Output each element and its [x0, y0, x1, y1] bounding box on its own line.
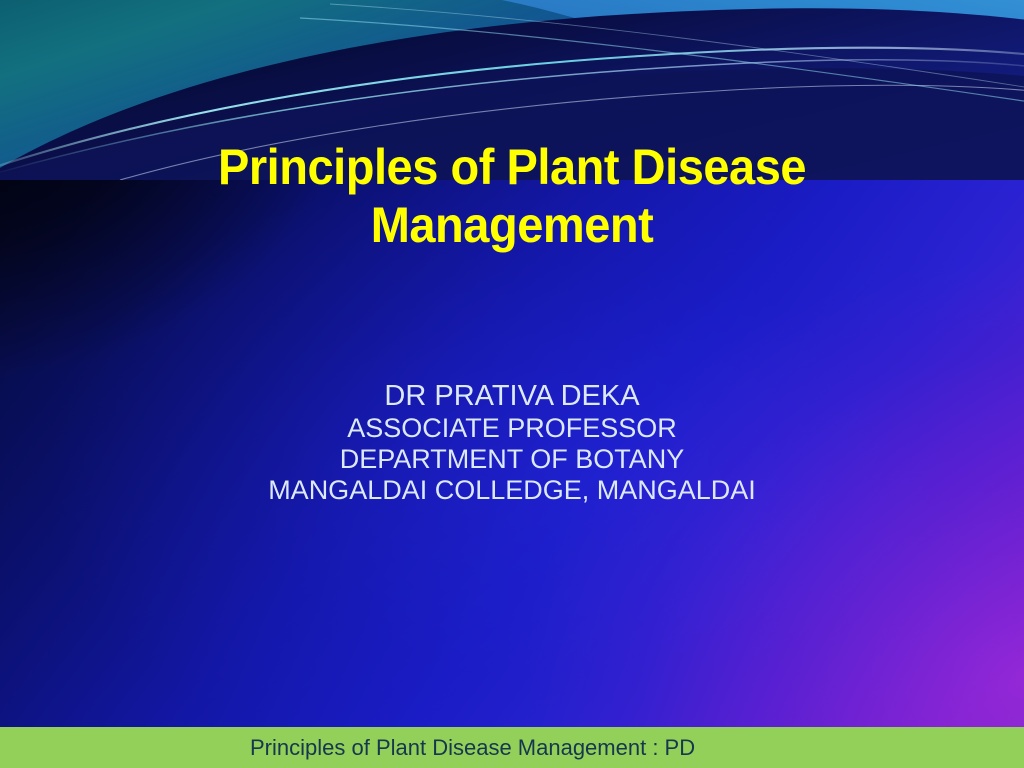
slide-title: Principles of Plant Disease Management	[0, 138, 1024, 254]
subtitle-designation: ASSOCIATE PROFESSOR	[0, 413, 1024, 444]
slide-title-line-2: Management	[31, 196, 994, 254]
subtitle-institution: MANGALDAI COLLEDGE, MANGALDAI	[0, 475, 1024, 506]
subtitle-department: DEPARTMENT OF BOTANY	[0, 444, 1024, 475]
slide-footer-bar: Principles of Plant Disease Management :…	[0, 727, 1024, 768]
slide-subtitle: DR PRATIVA DEKA ASSOCIATE PROFESSOR DEPA…	[0, 380, 1024, 506]
slide-title-line-1: Principles of Plant Disease	[31, 138, 994, 196]
subtitle-presenter-name: DR PRATIVA DEKA	[0, 380, 1024, 413]
presentation-slide: Principles of Plant Disease Management D…	[0, 0, 1024, 768]
footer-text: Principles of Plant Disease Management :…	[250, 737, 695, 759]
